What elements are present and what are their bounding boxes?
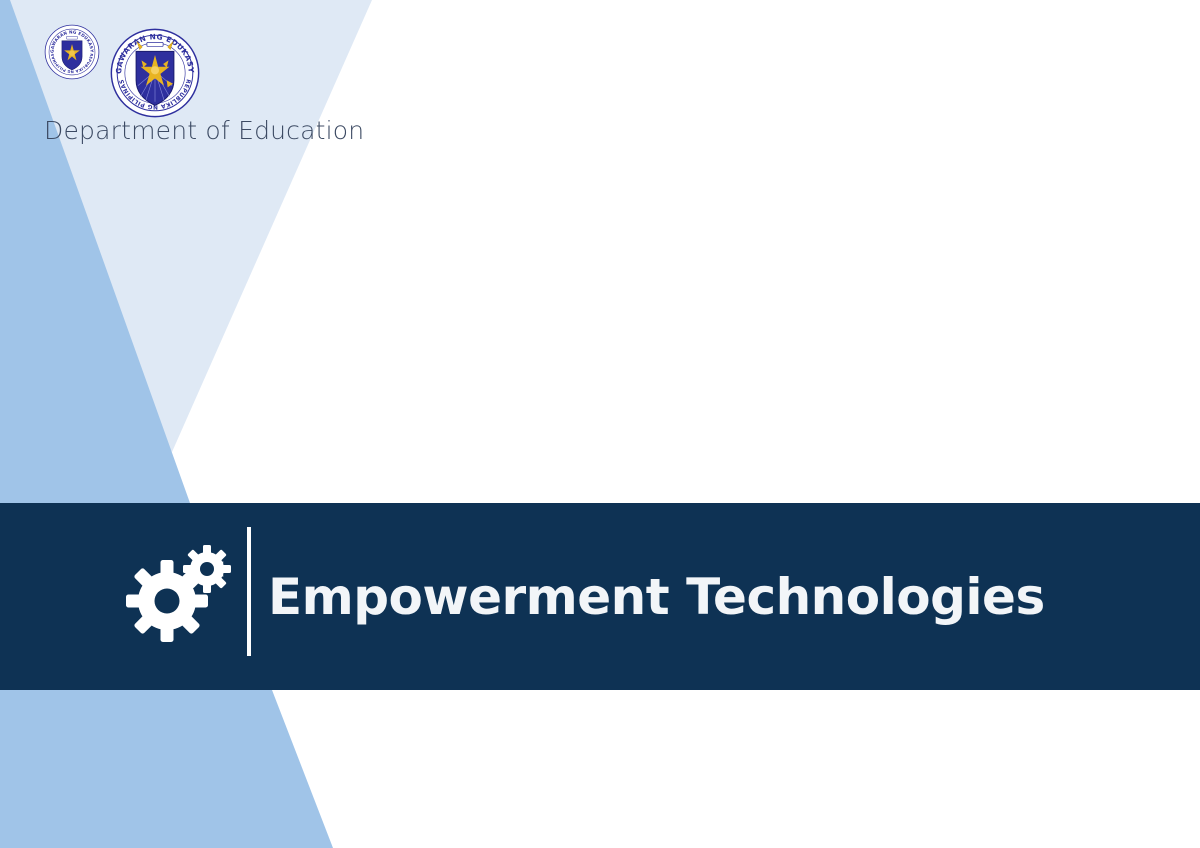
band-divider bbox=[247, 527, 251, 656]
deped-logo-lockup: KAGAWARAN NG EDUKASYON REPUBLIKA NG PILI… bbox=[38, 16, 298, 151]
deped-seal-small-icon: KAGAWARAN NG EDUKASYON REPUBLIKA NG PILI… bbox=[44, 24, 100, 80]
page-title: Empowerment Technologies bbox=[268, 503, 1045, 690]
gears-icon bbox=[122, 536, 244, 654]
deped-wordmark: Department of Education bbox=[44, 116, 364, 145]
deped-seal-large-icon: KAGAWARAN NG EDUKASYON REPUBLIKA NG PILI… bbox=[110, 28, 200, 118]
medium-blue-bottom-trapezoid bbox=[0, 690, 333, 848]
slide-canvas: KAGAWARAN NG EDUKASYON REPUBLIKA NG PILI… bbox=[0, 0, 1200, 848]
